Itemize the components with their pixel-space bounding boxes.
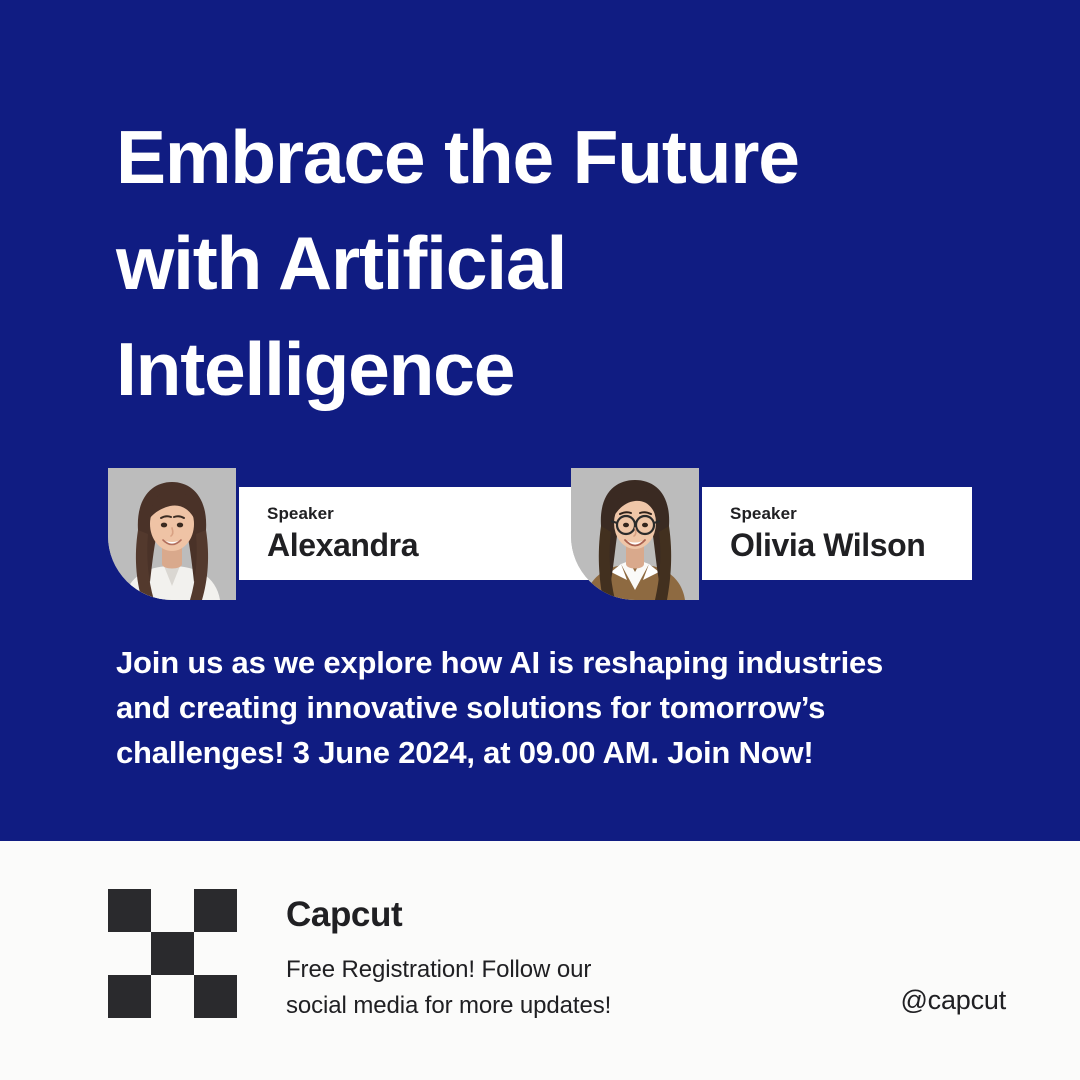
footer-tagline: Free Registration! Follow our social med… xyxy=(286,952,716,1024)
brand-name: Capcut xyxy=(286,893,402,937)
page-title: Embrace the Future with Artificial Intel… xyxy=(116,104,1016,422)
event-description: Join us as we explore how AI is reshapin… xyxy=(116,640,996,775)
speaker-avatar xyxy=(108,468,236,600)
speaker-name: Alexandra xyxy=(267,526,616,564)
speaker-role-label: Speaker xyxy=(730,504,972,524)
checkerboard-logo-icon xyxy=(108,889,237,1018)
speaker-avatar xyxy=(571,468,699,600)
hero-panel: Embrace the Future with Artificial Intel… xyxy=(0,0,1080,841)
event-poster: Embrace the Future with Artificial Intel… xyxy=(0,0,1080,1080)
speaker-namecard: Speaker Alexandra xyxy=(239,487,616,580)
social-handle[interactable]: @capcut xyxy=(900,985,1006,1016)
speaker-role-label: Speaker xyxy=(267,504,616,524)
speaker-list: Speaker Alexandra xyxy=(0,468,1080,602)
speaker-name: Olivia Wilson xyxy=(730,526,972,564)
speaker-namecard: Speaker Olivia Wilson xyxy=(702,487,972,580)
